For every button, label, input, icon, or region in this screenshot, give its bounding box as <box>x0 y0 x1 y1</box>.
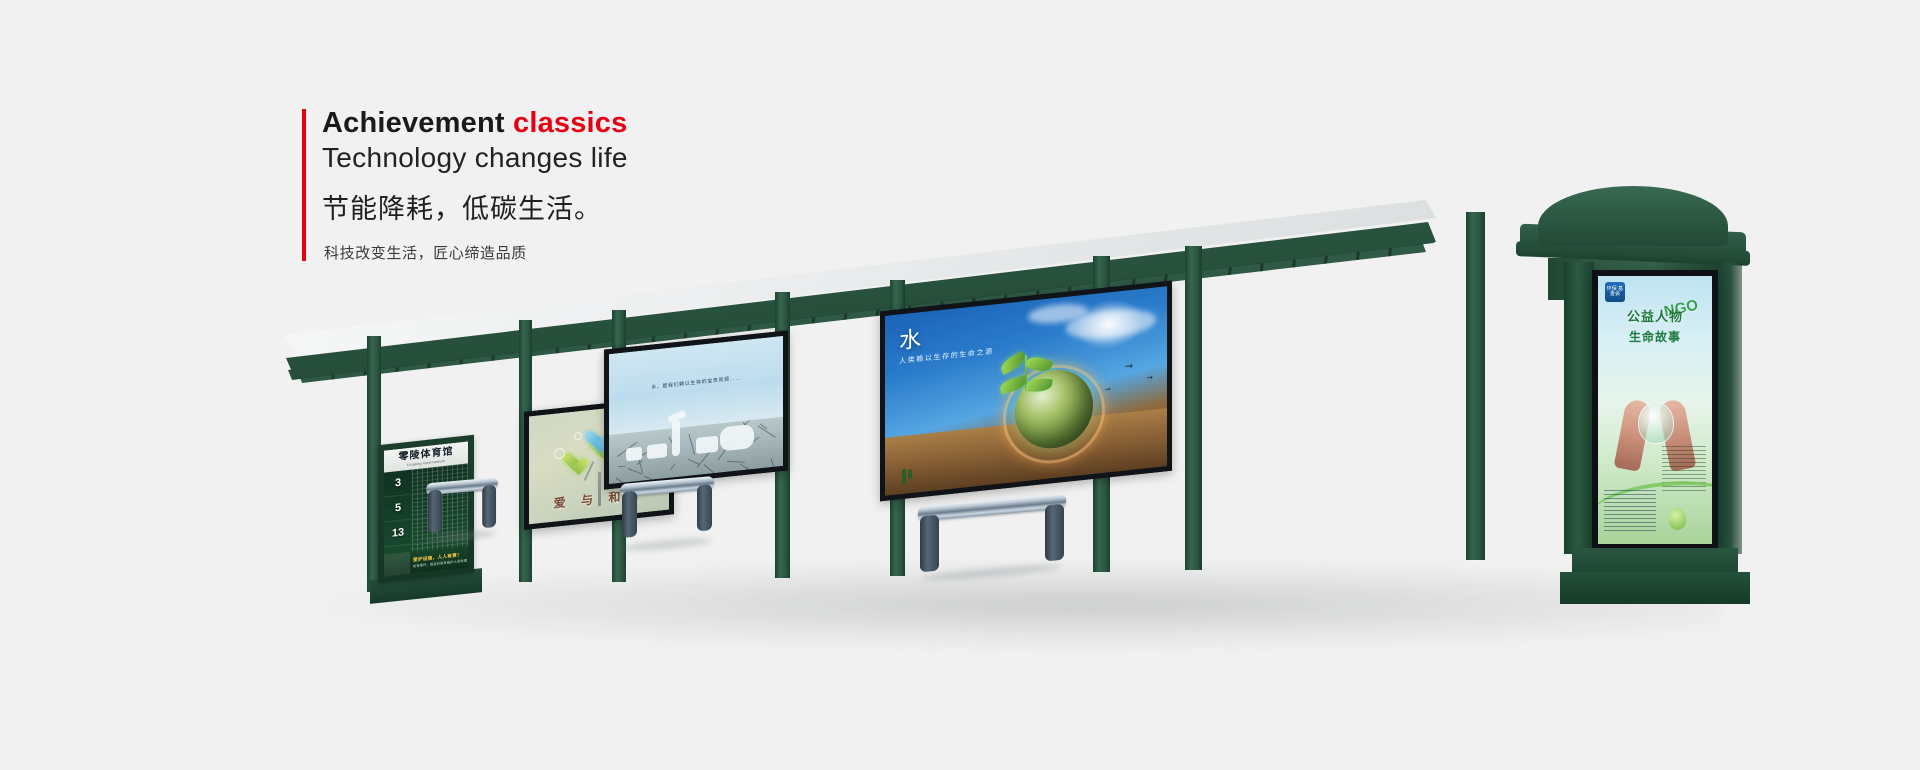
vertical-lightbox-screen: 环保 基金会 NGO 公益人物 生命故事 <box>1598 276 1712 544</box>
support-post <box>1466 212 1485 560</box>
panel-frame <box>880 281 1172 502</box>
route-number: 3 <box>384 470 412 497</box>
sprout-sphere <box>1638 402 1674 444</box>
bench-leg <box>622 491 637 538</box>
lightbox-base-lower <box>1560 572 1750 604</box>
panel-frame <box>604 330 788 489</box>
bench-leg <box>920 515 939 573</box>
bus-shelter: 零陵体育馆 Lingling Gymnasium 351323 爱护设施，人人有… <box>0 0 1920 770</box>
ad-panel-water[interactable]: ⇝ ⇝ ⇝ 水 人类赖以生存的生命之源 <box>880 281 1172 502</box>
bench-leg <box>482 485 496 529</box>
bench[interactable] <box>426 477 498 537</box>
bench[interactable] <box>620 476 714 546</box>
bench[interactable] <box>918 494 1066 577</box>
poster-footer-text <box>1604 490 1656 534</box>
lightbox-column-left <box>1564 262 1594 554</box>
bench-seat <box>918 494 1066 522</box>
leaf-drop-icon <box>1669 508 1686 530</box>
scene-stage: Achievement classics Technology changes … <box>0 0 1920 770</box>
route-number: 5 <box>384 495 412 522</box>
poster-title-line1: 公益人物 <box>1598 306 1712 325</box>
bench-leg <box>428 489 442 533</box>
lightbox-cap <box>1538 186 1728 246</box>
bench-shadow <box>622 536 712 553</box>
route-number: 13 <box>384 520 412 547</box>
poster-title-line2: 生命故事 <box>1598 328 1712 345</box>
ad-panel-drought[interactable]: 水，是我们赖以生存的宝贵资源…… <box>604 330 788 489</box>
bench-leg <box>1045 504 1064 562</box>
notice-label-box <box>384 552 410 577</box>
lightbox-column-right <box>1716 262 1742 554</box>
ngo-logo-icon: 环保 基金会 <box>1605 282 1625 302</box>
vertical-lightbox[interactable]: 环保 基金会 NGO 公益人物 生命故事 <box>1592 270 1718 550</box>
bench-leg <box>697 484 712 531</box>
support-post <box>1185 246 1202 570</box>
